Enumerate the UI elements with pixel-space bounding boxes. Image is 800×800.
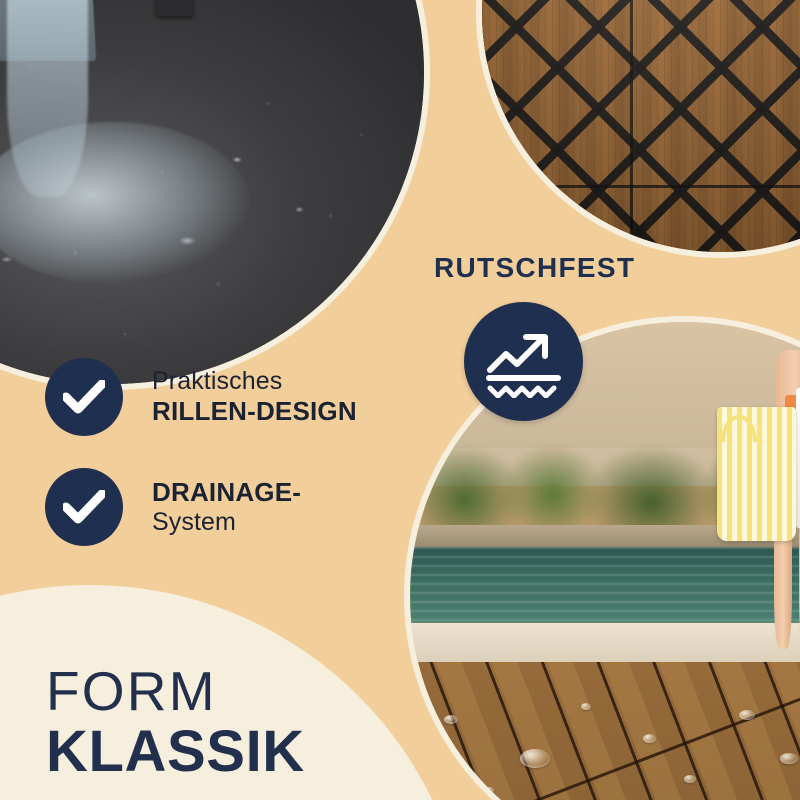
feature-item: Praktisches RILLEN-DESIGN [45,358,405,436]
water-droplets [0,0,424,384]
anti-slip-lattice-photo [476,0,800,258]
feature-list: Praktisches RILLEN-DESIGN DRAINAGE- Syst… [45,358,405,578]
feature-line-1: DRAINAGE- [152,477,301,508]
striped-beach-bag [717,407,797,540]
feature-line-2: RILLEN-DESIGN [152,396,357,427]
deck-plank-lines [404,662,800,800]
headline-line-1: FORM [46,663,305,720]
white-towel [796,388,800,528]
check-icon [45,358,123,436]
feature-item: DRAINAGE- System [45,468,405,546]
lattice-shading [482,0,800,252]
headline-line-2: KLASSIK [46,722,305,782]
pool-deck-photo [404,316,800,800]
feature-line-2: System [152,508,301,538]
product-infographic-poster: Praktisches RILLEN-DESIGN DRAINAGE- Syst… [0,0,800,800]
feature-text: DRAINAGE- System [152,477,301,537]
wooden-deck-surface [404,662,800,800]
anti-slip-arrow-wave-icon [464,302,583,421]
page-title: FORM KLASSIK [46,663,305,783]
drainage-water-photo [0,0,430,390]
check-icon [45,468,123,546]
rutschfest-label: RUTSCHFEST [434,252,635,284]
bag-handle [721,415,756,442]
drainage-photo-inner [0,0,424,384]
feature-line-1: Praktisches [152,367,357,397]
feature-text: Praktisches RILLEN-DESIGN [152,367,357,427]
person-with-beach-bag [722,344,800,662]
